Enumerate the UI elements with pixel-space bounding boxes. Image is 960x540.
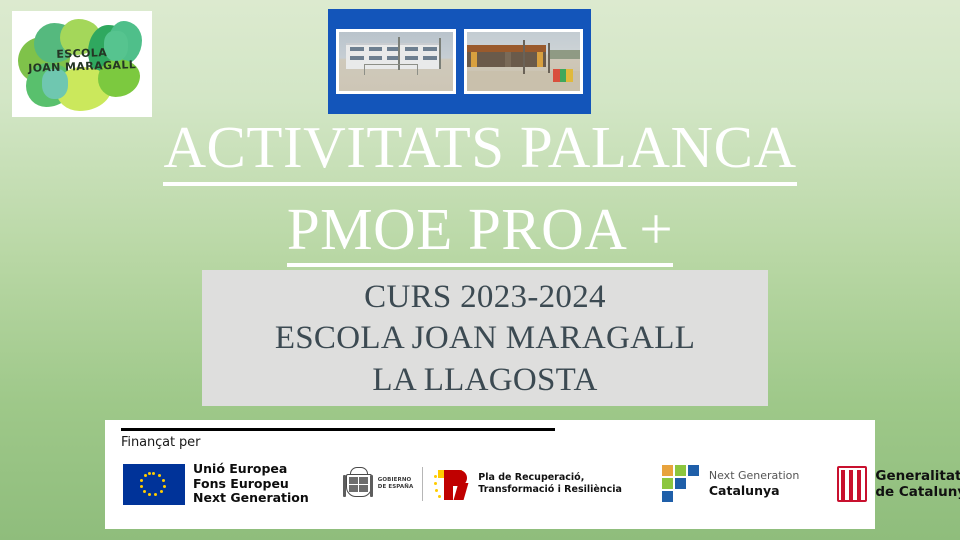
- hill: [548, 50, 580, 59]
- title-line-1: ACTIVITATS PALANCA: [163, 116, 796, 186]
- funding-logo-row: Unió Europea Fons Europeu Next Generatio…: [119, 456, 861, 512]
- porch-roof: [467, 45, 546, 52]
- school-logo-text: ESCOLA JOAN MARAGALL: [12, 45, 152, 77]
- school-logo: ESCOLA JOAN MARAGALL: [12, 11, 152, 117]
- generalitat-line-1: Generalitat: [875, 468, 960, 484]
- generalitat-text: Generalitat de Catalunya: [875, 468, 960, 500]
- eu-flag-icon: [123, 464, 185, 505]
- funding-divider: [121, 428, 555, 431]
- gobierno-line-1: GOBIERNO: [378, 477, 414, 484]
- presentation-slide: ESCOLA JOAN MARAGALL: [0, 0, 960, 540]
- subtitle-line-2: ESCOLA JOAN MARAGALL: [275, 318, 695, 360]
- ngc-line-2: Catalunya: [709, 483, 800, 499]
- eu-line-3: Next Generation: [193, 491, 309, 506]
- goal-post: [364, 64, 418, 74]
- photo-banner: [328, 9, 591, 114]
- next-generation-catalunya-text: Next Generation Catalunya: [709, 469, 800, 498]
- gobierno-line-2: DE ESPAÑA: [378, 484, 414, 491]
- next-generation-squares-icon: [662, 465, 700, 503]
- subtitle-line-3: LA LLAGOSTA: [372, 360, 597, 402]
- funding-label: Finançat per: [121, 435, 861, 450]
- school-building-photo: [336, 29, 456, 94]
- eu-line-2: Fons Europeu: [193, 477, 309, 492]
- eu-logo: Unió Europea Fons Europeu Next Generatio…: [123, 460, 309, 508]
- spanish-coat-of-arms-icon: [343, 467, 373, 501]
- school-porch-photo: [464, 29, 584, 94]
- prtr-line-1: Pla de Recuperació,: [478, 472, 622, 484]
- next-generation-catalunya-logo: Next Generation Catalunya: [662, 460, 800, 508]
- gobierno-de-espana-logo: GOBIERNO DE ESPAÑA Pla de Recuperació,: [343, 460, 622, 508]
- ngc-line-1: Next Generation: [709, 469, 800, 483]
- slide-title: ACTIVITATS PALANCA PMOE PROA +: [0, 116, 960, 267]
- subtitle-box: CURS 2023-2024 ESCOLA JOAN MARAGALL LA L…: [202, 270, 768, 406]
- prtr-logo-icon: [432, 466, 472, 502]
- logo-divider: [422, 467, 423, 501]
- prtr-logo-text: Pla de Recuperació, Transformació i Resi…: [478, 472, 622, 497]
- prtr-line-2: Transformació i Resiliència: [478, 484, 622, 496]
- gobierno-logo-text: GOBIERNO DE ESPAÑA: [378, 477, 414, 491]
- generalitat-de-catalunya-logo: Generalitat de Catalunya: [837, 460, 960, 508]
- generalitat-line-2: de Catalunya: [875, 484, 960, 500]
- eu-line-1: Unió Europea: [193, 462, 309, 477]
- eu-logo-text: Unió Europea Fons Europeu Next Generatio…: [193, 462, 309, 506]
- title-line-2: PMOE PROA +: [287, 198, 673, 268]
- subtitle-line-1: CURS 2023-2024: [364, 277, 606, 319]
- funding-banner: Finançat per: [105, 420, 875, 529]
- catalan-shield-icon: [837, 466, 867, 502]
